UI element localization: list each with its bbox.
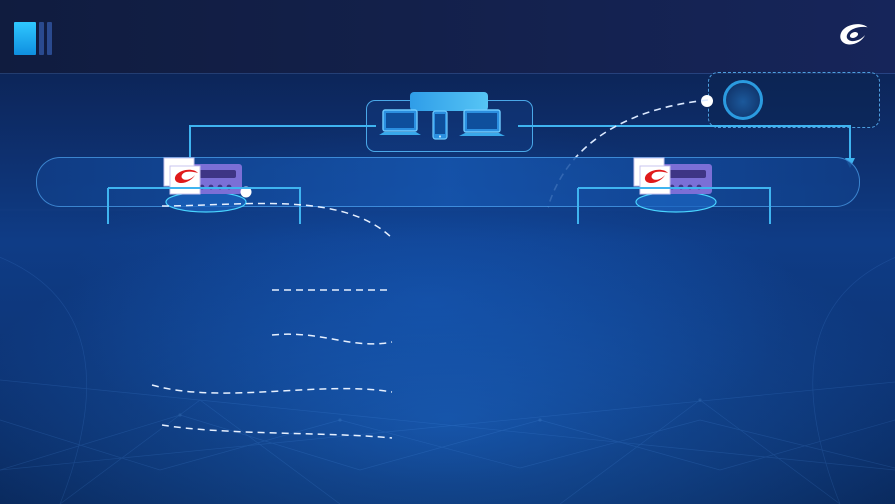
laptop-icon [378,108,422,140]
brand-logo [837,22,879,48]
page-title [52,14,80,45]
header-bar [0,0,895,74]
ring-gauge-icon [723,80,763,120]
title-accent-bars-icon [14,22,52,55]
swirl-logo-icon [837,22,871,48]
slide-canvas [0,0,895,504]
band-branch-right-dc2 [570,186,780,226]
engine-connectors [282,180,412,470]
band-branch-left-dc1 [100,186,310,226]
title-dash [52,15,80,42]
